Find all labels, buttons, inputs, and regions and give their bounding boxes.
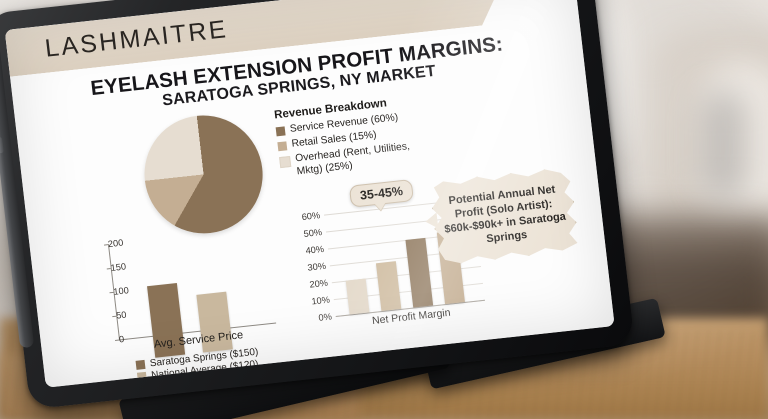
- y-tick-150: 150: [110, 263, 115, 273]
- net-margin-bar-3: [405, 238, 433, 308]
- presentation-slide: LASHMAITRE EYELASH EXTENSION PROFIT MARG…: [5, 0, 615, 388]
- legend-swatch-national-average: [137, 372, 147, 382]
- margin-range-badge: 35-45%: [349, 179, 414, 208]
- y-tick-0pct: 0%: [301, 311, 332, 324]
- y-tick-10pct: 10%: [299, 295, 330, 308]
- legend-swatch-service-revenue: [276, 126, 286, 136]
- y-tick-200: 200: [107, 239, 112, 249]
- y-tick-30pct: 30%: [295, 261, 326, 274]
- net-margin-bar-2: [376, 261, 401, 311]
- revenue-breakdown-pie-chart: [138, 109, 271, 241]
- net-profit-callout-text: Potential Annual Net Profit (Solo Artist…: [439, 182, 569, 251]
- screenshot-stage: LASHMAITRE EYELASH EXTENSION PROFIT MARG…: [0, 0, 768, 419]
- tablet-screen: LASHMAITRE EYELASH EXTENSION PROFIT MARG…: [5, 0, 615, 388]
- legend-swatch-retail-sales: [277, 141, 287, 151]
- y-tick-100: 100: [113, 286, 118, 296]
- pie-slices: [138, 109, 269, 239]
- tablet-bezel: LASHMAITRE EYELASH EXTENSION PROFIT MARG…: [0, 0, 635, 410]
- y-tick-40pct: 40%: [294, 244, 325, 257]
- tablet-device: LASHMAITRE EYELASH EXTENSION PROFIT MARG…: [0, 0, 656, 419]
- net-margin-bar-1: [346, 279, 370, 315]
- y-tick-50pct: 50%: [292, 227, 323, 240]
- legend-swatch-overhead: [279, 156, 291, 168]
- pie-legend: Revenue Breakdown Service Revenue (60%) …: [274, 88, 481, 183]
- avg-service-price-chart: 0 50 100 150 200 Avg. Service Price: [78, 224, 287, 364]
- legend-swatch-saratoga-springs: [136, 360, 146, 370]
- y-tick-50: 50: [116, 310, 121, 320]
- y-tick-60pct: 60%: [290, 210, 321, 223]
- y-tick-20pct: 20%: [297, 278, 328, 291]
